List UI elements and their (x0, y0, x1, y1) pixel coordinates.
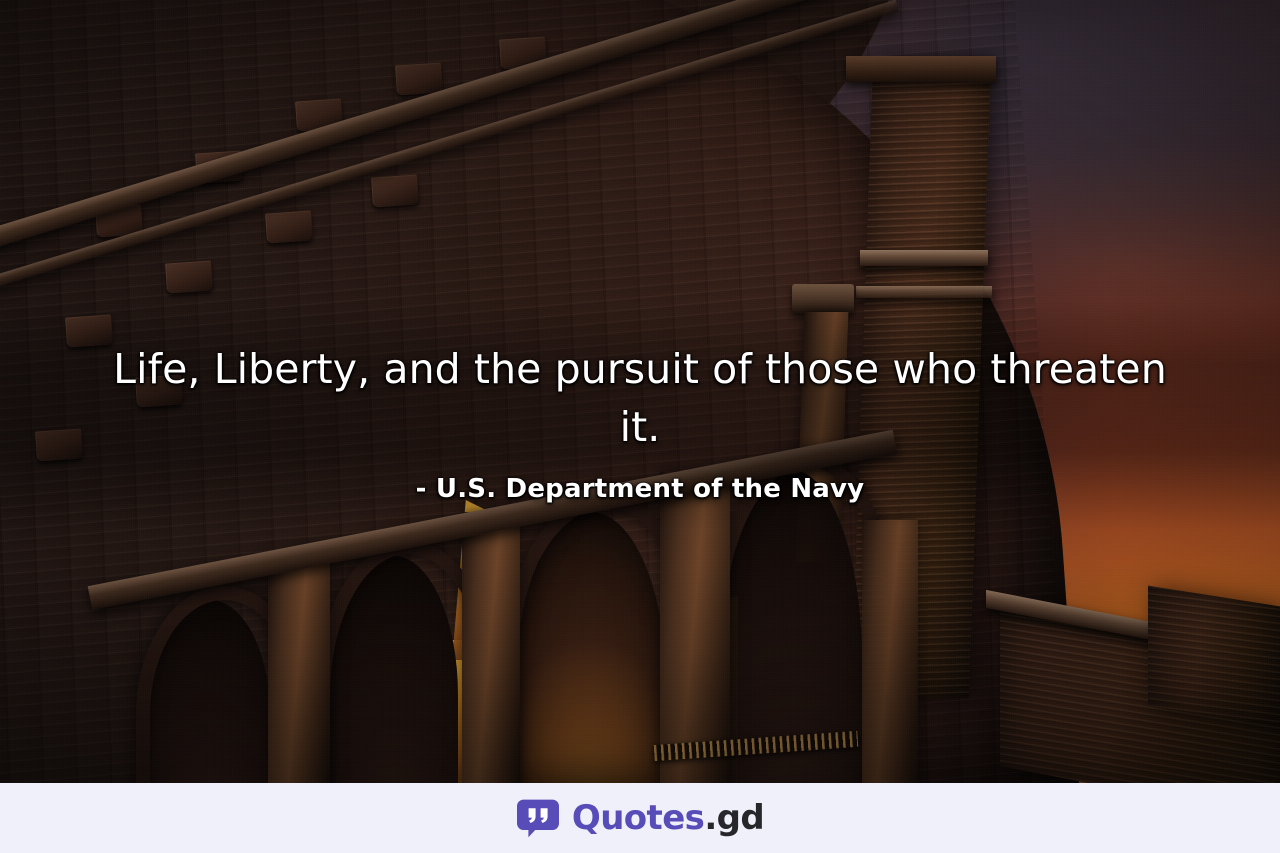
brand-logo-link[interactable]: Quotes.gd (516, 798, 764, 838)
footer-bar: Quotes.gd (0, 783, 1280, 853)
quote-text: Life, Liberty, and the pursuit of those … (88, 340, 1192, 456)
quote-bubble-icon (516, 798, 560, 838)
quote-author: - U.S. Department of the Navy (88, 474, 1192, 504)
brand-wordmark: Quotes.gd (572, 801, 764, 835)
brand-tld: .gd (704, 798, 764, 838)
quote-card: Life, Liberty, and the pursuit of those … (0, 0, 1280, 853)
brand-name: Quotes (572, 798, 704, 838)
quote-block: Life, Liberty, and the pursuit of those … (0, 340, 1280, 504)
